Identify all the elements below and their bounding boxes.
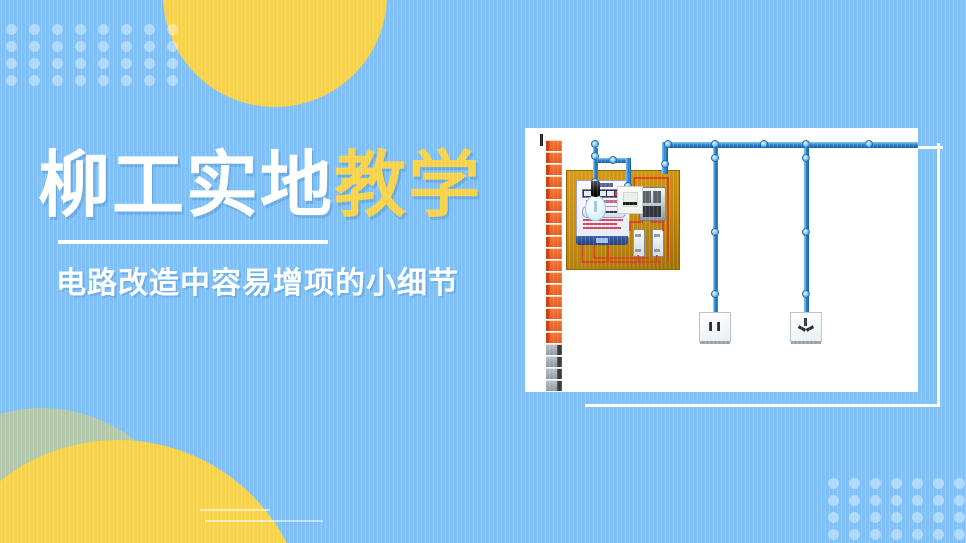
two-pin-outlet [699, 312, 731, 342]
circuit-breaker [639, 187, 666, 221]
junction-node [711, 290, 719, 298]
yellow-circle-bottom-left [0, 440, 308, 543]
junction-node [591, 152, 599, 160]
junction-node [591, 140, 599, 148]
junction-node [802, 140, 810, 148]
yellow-circle-top [163, 0, 387, 107]
meter-board [566, 170, 680, 270]
meter-terminal-cover [576, 236, 628, 245]
fuse-1 [633, 229, 645, 257]
junction-node [664, 140, 672, 148]
page-subtitle: 电路改造中容易增项的小细节 [0, 258, 520, 302]
title-block: 柳工实地教学 电路改造中容易增项的小细节 [0, 150, 520, 302]
title-divider [58, 240, 328, 244]
decor-line-2 [205, 520, 323, 522]
poster-canvas: 柳工实地教学 电路改造中容易增项的小细节 [0, 0, 966, 543]
junction-node [802, 290, 810, 298]
light-bulb [585, 195, 606, 221]
illustration-card [525, 128, 918, 392]
junction-node [711, 154, 719, 162]
junction-node [711, 140, 719, 148]
junction-node [609, 156, 617, 164]
fuse-2 [652, 229, 664, 257]
junction-node [802, 154, 810, 162]
dot-grid-top-left [6, 24, 190, 92]
wall-switch [617, 186, 643, 214]
brick-wall [546, 140, 562, 374]
page-title: 柳工实地教学 [0, 150, 520, 222]
dot-grid-bottom-right [828, 478, 966, 543]
title-yellow-part: 教学 [334, 146, 482, 226]
wiring-diagram [525, 128, 918, 392]
main-conduit [665, 142, 918, 148]
decor-line-1 [200, 509, 270, 511]
junction-node [802, 228, 810, 236]
switch-lever-icon [540, 134, 543, 146]
junction-node [865, 140, 873, 148]
bulb-socket [591, 181, 600, 197]
junction-node [760, 140, 768, 148]
three-pin-outlet [790, 312, 822, 342]
junction-node [711, 228, 719, 236]
junction-node [661, 160, 669, 168]
title-white-part: 柳工实地 [38, 146, 334, 226]
